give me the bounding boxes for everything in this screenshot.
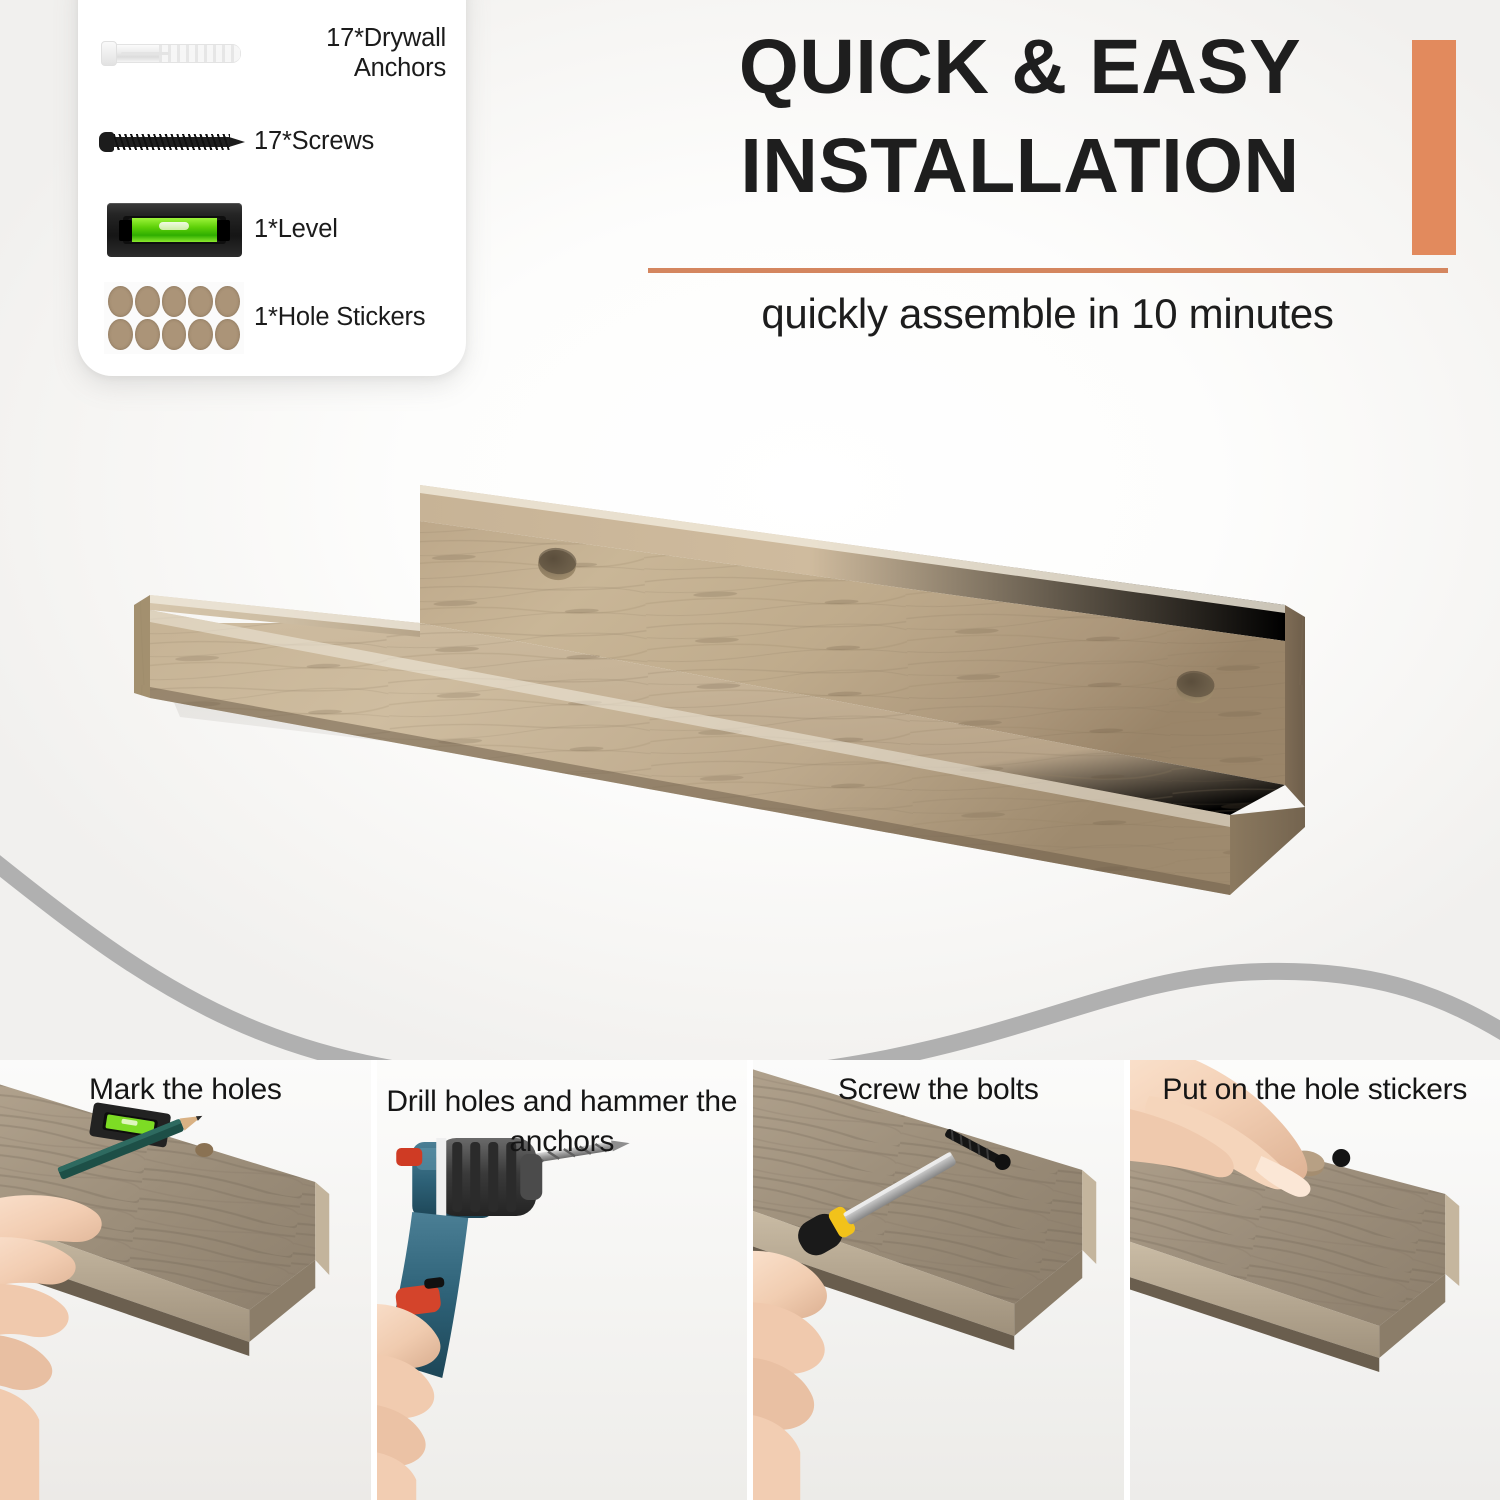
parts-list-card: 17*Drywall Anchors 17*Screws 1*Level [78,0,466,376]
headline-subtitle: quickly assemble in 10 minutes [640,290,1455,338]
parts-list-item-label: 17*Screws [254,127,454,157]
headline-line-1: QUICK & EASY [640,18,1400,117]
installation-steps-strip: Mark the holes [0,1060,1500,1500]
step-card-3: Screw the bolts [753,1060,1124,1500]
parts-list-item-label: 1*Level [254,215,454,245]
step-caption-3: Screw the bolts [753,1070,1124,1110]
shelf-left-end [134,595,150,698]
step-caption-2: Drill holes and hammer the anchors [377,1082,748,1162]
hand-screwdriver-shelf-illustration [753,1060,1124,1500]
step-card-4: Put on the hole stickers [1130,1060,1500,1500]
hand-placing-sticker-illustration [1130,1060,1500,1500]
parts-list-item: 17*Screws [78,98,466,186]
hero-section: 17*Drywall Anchors 17*Screws 1*Level [0,0,1500,1060]
step-caption-4: Put on the hole stickers [1130,1070,1500,1110]
product-shelf-image [120,455,1310,885]
hand-pencil-level-marking-illustration [0,1060,371,1500]
drywall-anchor-icon [94,18,254,90]
hole-stickers-icon [94,282,254,354]
parts-list-item: 17*Drywall Anchors [78,10,466,98]
parts-list-item: 1*Hole Stickers [78,274,466,362]
screw-icon [94,106,254,178]
accent-bar [1412,40,1456,255]
parts-list-item: 1*Level [78,186,466,274]
step-card-1: Mark the holes [0,1060,371,1500]
step-card-2: Drill holes and hammer the anchors [377,1060,748,1500]
parts-list-item-label: 1*Hole Stickers [254,303,454,333]
parts-list-item-label: 17*Drywall Anchors [254,24,454,83]
step-caption-1: Mark the holes [0,1070,371,1110]
headline-divider-rule [648,268,1448,273]
headline-block: QUICK & EASY INSTALLATION quickly assemb… [640,18,1470,348]
headline-line-2: INSTALLATION [640,117,1400,216]
level-icon [94,194,254,266]
